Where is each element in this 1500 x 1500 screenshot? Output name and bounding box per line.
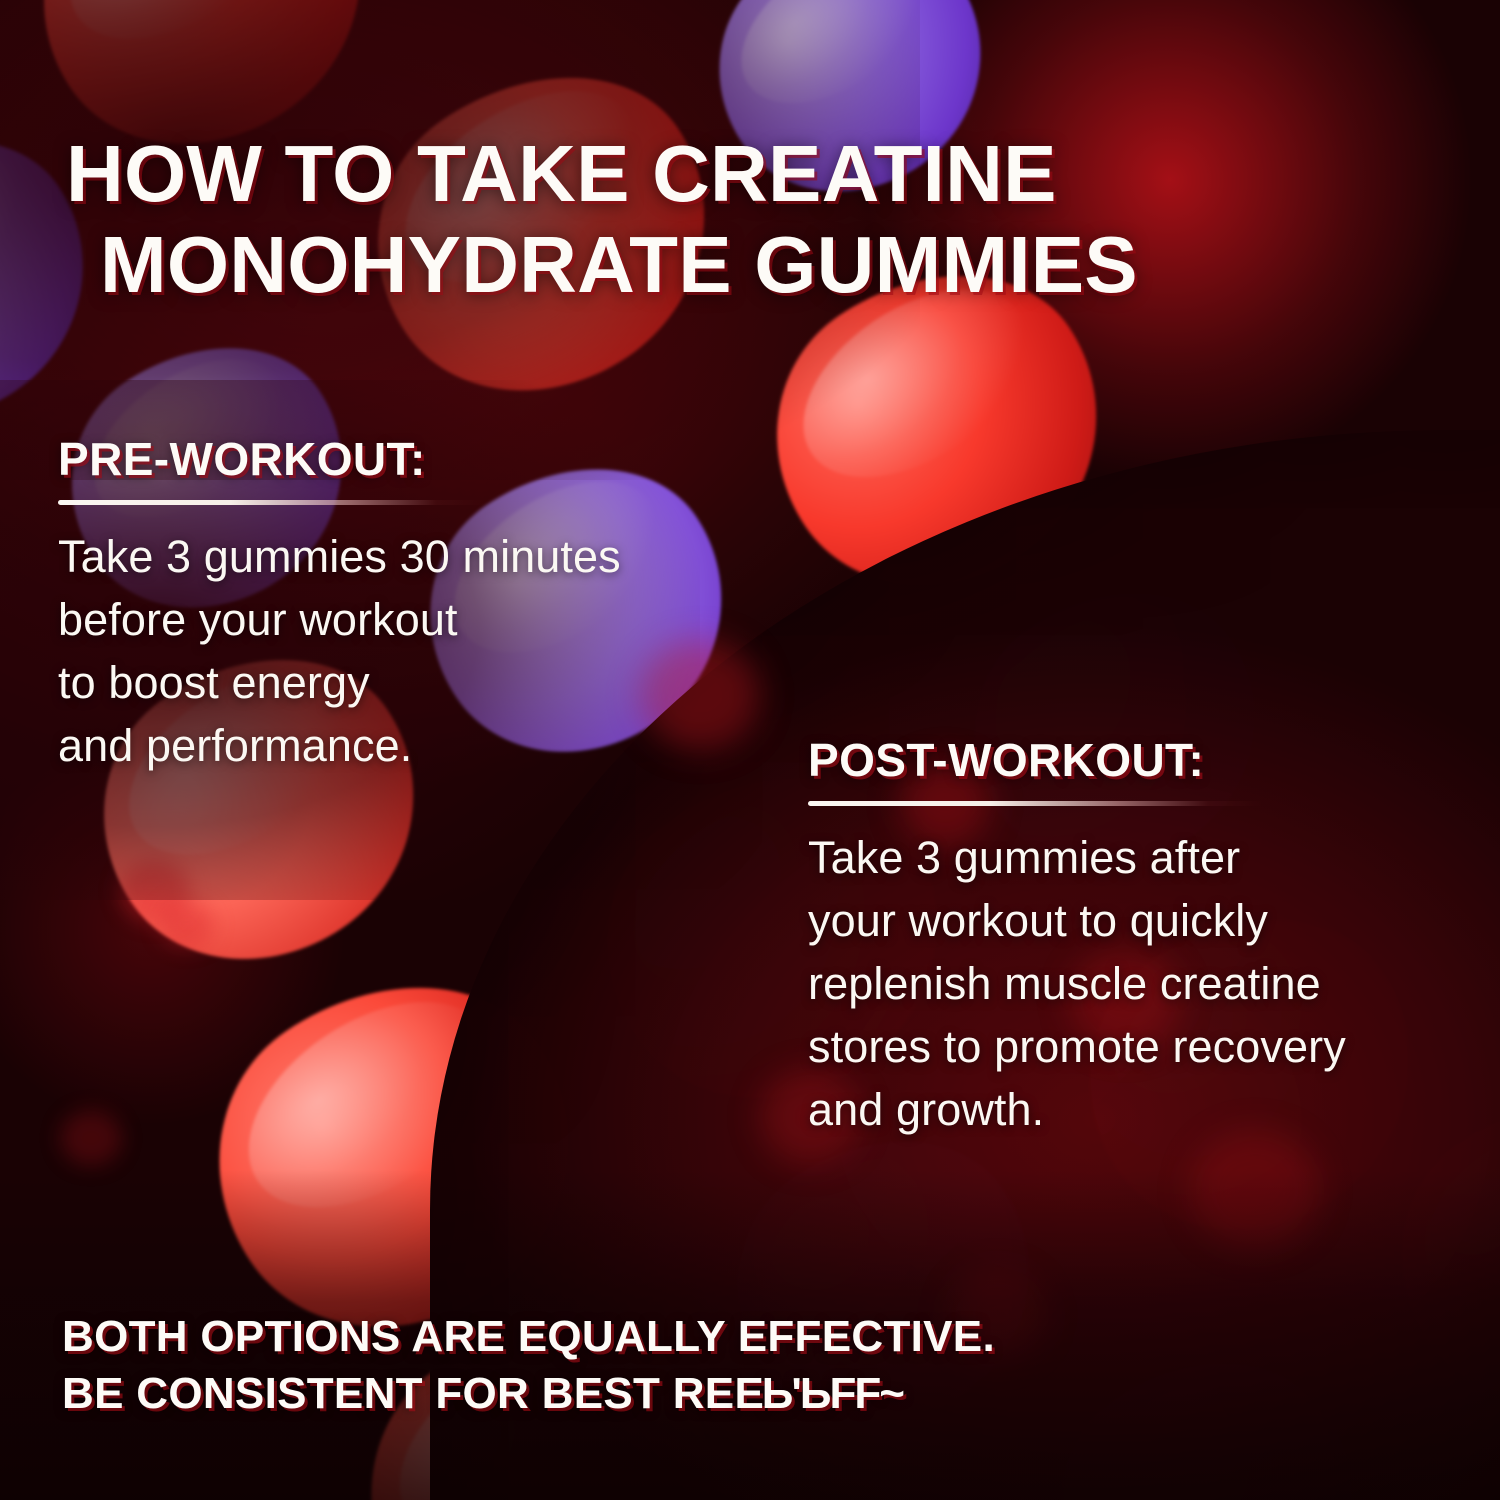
section-pre-workout: PRE-WORKOUT: Take 3 gummies 30 minutes b… xyxy=(58,432,758,777)
footer-line-2-garbled-text: EЬ'ЬFF~ xyxy=(734,1369,903,1418)
post-workout-line: Take 3 gummies after xyxy=(808,826,1468,889)
creatine-gummies-infographic: HOW TO TAKE CREATINE MONOHYDRATE GUMMIES… xyxy=(0,0,1500,1500)
pre-workout-line: to boost energy xyxy=(58,651,758,714)
post-workout-line: and growth. xyxy=(808,1078,1468,1141)
page-title: HOW TO TAKE CREATINE MONOHYDRATE GUMMIES xyxy=(66,128,1296,310)
post-workout-line: replenish muscle creatine xyxy=(808,952,1468,1015)
footer-line-2-prefix: BE CONSISTENT FOR BEST RE xyxy=(62,1369,734,1418)
pre-workout-divider xyxy=(58,500,488,505)
footer-line-1: BOTH OPTIONS ARE EQUALLY EFFECTIVE. xyxy=(62,1309,1392,1365)
pre-workout-heading: PRE-WORKOUT: xyxy=(58,432,758,486)
footer-callout: BOTH OPTIONS ARE EQUALLY EFFECTIVE. BE C… xyxy=(62,1309,1392,1422)
post-workout-heading: POST-WORKOUT: xyxy=(808,733,1468,787)
post-workout-line: your workout to quickly xyxy=(808,889,1468,952)
pre-workout-line: Take 3 gummies 30 minutes xyxy=(58,525,758,588)
section-post-workout: POST-WORKOUT: Take 3 gummies after your … xyxy=(808,733,1468,1141)
title-line-2: MONOHYDRATE GUMMIES xyxy=(66,219,1296,310)
pre-workout-line: and performance. xyxy=(58,714,758,777)
footer-line-2: BE CONSISTENT FOR BEST REEЬ'ЬFF~ xyxy=(62,1366,1392,1422)
pre-workout-line: before your workout xyxy=(58,588,758,651)
pre-workout-body: Take 3 gummies 30 minutes before your wo… xyxy=(58,525,758,777)
title-line-1: HOW TO TAKE CREATINE xyxy=(66,129,1057,218)
post-workout-divider xyxy=(808,801,1263,806)
post-workout-body: Take 3 gummies after your workout to qui… xyxy=(808,826,1468,1141)
post-workout-line: stores to promote recovery xyxy=(808,1015,1468,1078)
poster-content: HOW TO TAKE CREATINE MONOHYDRATE GUMMIES… xyxy=(0,0,1500,1500)
